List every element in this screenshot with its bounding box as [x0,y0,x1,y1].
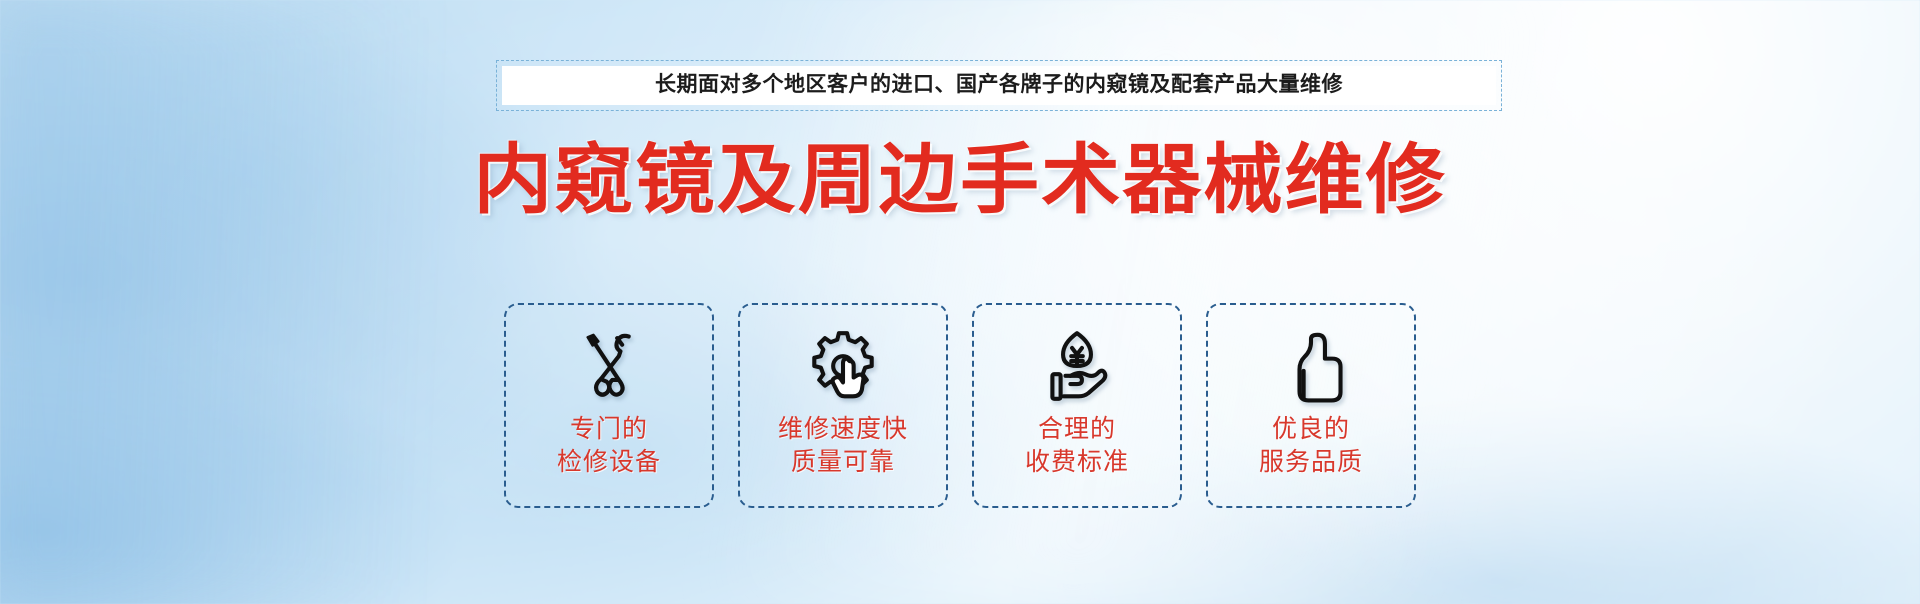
feature-card-label-line2: 收费标准 [1025,446,1129,479]
feature-card-equipment[interactable]: 专门的 检修设备 [504,303,714,508]
tagline-inner-bar: 长期面对多个地区客户的进口、国产各牌子的内窥镜及配套产品大量维修 [502,66,1496,105]
feature-card-label-line2: 服务品质 [1259,446,1363,479]
tagline-text: 长期面对多个地区客户的进口、国产各牌子的内窥镜及配套产品大量维修 [512,73,1486,96]
headline-wrapper: 内窥镜及周边手术器械维修 [0,142,1920,218]
promo-banner: 长期面对多个地区客户的进口、国产各牌子的内窥镜及配套产品大量维修 内窥镜及周边手… [0,0,1920,604]
feature-card-label-line1: 维修速度快 [778,413,908,446]
feature-card-label-line1: 优良的 [1259,413,1363,446]
page-title: 内窥镜及周边手术器械维修 [473,142,1446,218]
gear-click-icon [800,325,886,407]
banner-content: 长期面对多个地区客户的进口、国产各牌子的内窥镜及配套产品大量维修 内窥镜及周边手… [0,0,1920,604]
feature-card-label-line2: 质量可靠 [778,446,908,479]
feature-card-label: 合理的 收费标准 [1025,413,1129,478]
screwdriver-wrench-icon [566,325,652,407]
feature-card-label-line1: 合理的 [1025,413,1129,446]
feature-card-label: 维修速度快 质量可靠 [778,413,908,478]
feature-card-speed[interactable]: 维修速度快 质量可靠 [738,303,948,508]
feature-card-label: 优良的 服务品质 [1259,413,1363,478]
feature-card-row: 专门的 检修设备 维修速度快 质量可靠 [0,303,1920,508]
hand-yen-coin-icon [1034,325,1120,407]
thumbs-up-icon [1268,325,1354,407]
feature-card-label-line1: 专门的 [557,413,661,446]
feature-card-quality[interactable]: 优良的 服务品质 [1206,303,1416,508]
tagline-frame: 长期面对多个地区客户的进口、国产各牌子的内窥镜及配套产品大量维修 [496,60,1502,111]
feature-card-pricing[interactable]: 合理的 收费标准 [972,303,1182,508]
feature-card-label-line2: 检修设备 [557,446,661,479]
feature-card-label: 专门的 检修设备 [557,413,661,478]
